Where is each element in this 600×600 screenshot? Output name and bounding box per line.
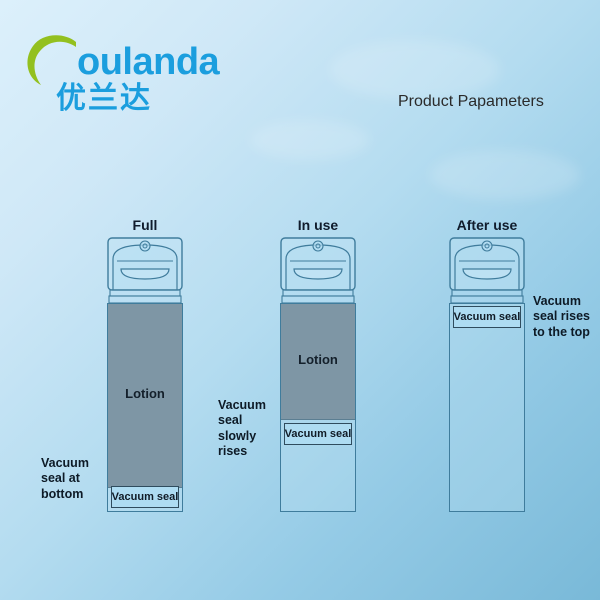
annotation-line: to the top: [533, 325, 590, 340]
vacuum-seal-box: Vacuum seal: [111, 486, 179, 508]
page-title: Product Papameters: [398, 93, 544, 111]
watermark-blotch: [430, 150, 580, 200]
lotion-label: Lotion: [108, 386, 182, 401]
watermark-blotch: [330, 40, 500, 100]
bottle-body: Lotion Vacuum seal: [107, 303, 183, 512]
brand-logo: oulanda 优兰达: [24, 34, 224, 114]
annotation-line: seal at: [41, 471, 89, 486]
annotation-line: seal rises: [533, 309, 590, 324]
annotation-seal-slowly-rises: Vacuum seal slowly rises: [218, 398, 266, 459]
annotation-seal-rises-to-top: Vacuum seal rises to the top: [533, 294, 590, 340]
annotation-line: rises: [218, 444, 266, 459]
pump-cap-icon: [107, 237, 183, 305]
bottle-stage-label: In use: [280, 217, 356, 233]
vacuum-seal-box: Vacuum seal: [453, 306, 521, 328]
lotion-label: Lotion: [281, 352, 355, 367]
logo-wordmark: oulanda: [77, 43, 219, 81]
vacuum-seal-label: Vacuum seal: [454, 311, 521, 323]
watermark-blotch: [250, 120, 370, 160]
product-diagram-canvas: oulanda 优兰达 Product Papameters Full Loti…: [0, 0, 600, 600]
vacuum-seal-label: Vacuum seal: [112, 491, 179, 503]
pump-cap-icon: [449, 237, 525, 305]
lotion-fill: Lotion: [281, 304, 355, 420]
lotion-fill: Lotion: [108, 304, 182, 488]
annotation-line: seal: [218, 413, 266, 428]
annotation-line: Vacuum: [41, 456, 89, 471]
pump-cap-icon: [280, 237, 356, 305]
bottle-body: Lotion Vacuum seal: [280, 303, 356, 512]
bottle-stage-label: Full: [107, 217, 183, 233]
logo-chinese-name: 优兰达: [56, 84, 152, 114]
annotation-line: Vacuum: [218, 398, 266, 413]
bottle-body: Vacuum seal: [449, 303, 525, 512]
annotation-seal-at-bottom: Vacuum seal at bottom: [41, 456, 89, 502]
annotation-line: slowly: [218, 429, 266, 444]
vacuum-seal-box: Vacuum seal: [284, 423, 352, 445]
bottle-stage-label: After use: [449, 217, 525, 233]
annotation-line: bottom: [41, 487, 89, 502]
annotation-line: Vacuum: [533, 294, 590, 309]
vacuum-seal-label: Vacuum seal: [285, 428, 352, 440]
